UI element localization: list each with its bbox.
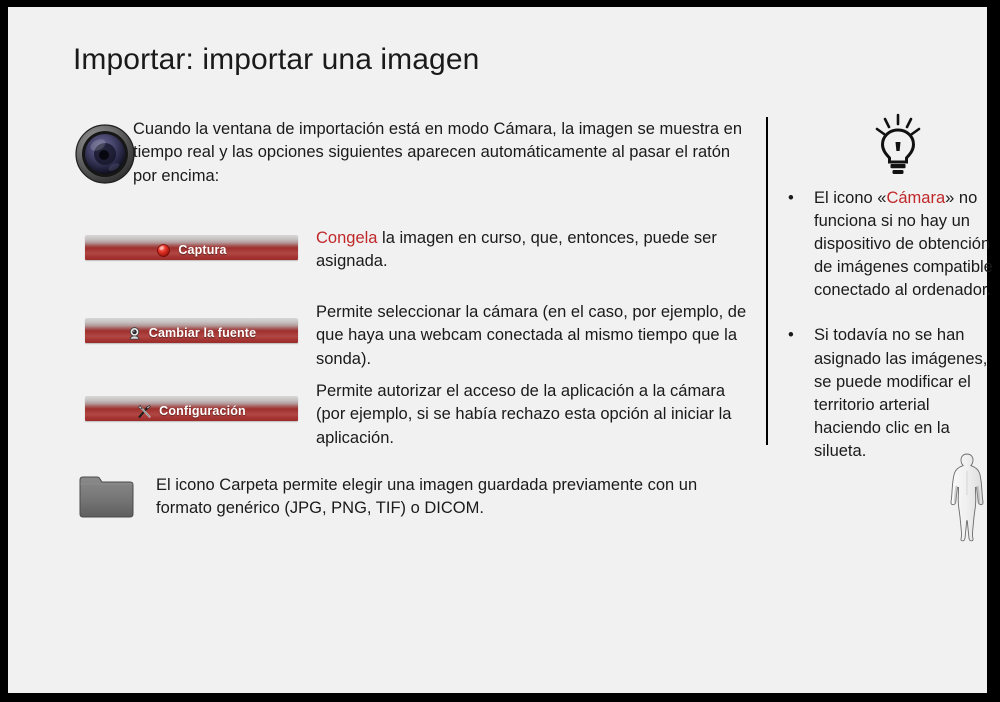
list-item: •Si todavía no se han asignado las imáge… xyxy=(778,324,996,463)
intro-text: Cuando la ventana de importación está en… xyxy=(133,118,753,188)
tip-1-part1: El icono « xyxy=(814,189,886,207)
record-dot-icon xyxy=(156,243,171,258)
tip-2-text: Si todavía no se han asignado las imágen… xyxy=(814,326,987,459)
captura-button[interactable]: Captura xyxy=(85,235,298,260)
intro-block: Cuando la ventana de importación está en… xyxy=(133,118,753,188)
configuracion-button[interactable]: Configuración xyxy=(85,396,298,421)
configuracion-description: Permite autorizar el acceso de la aplica… xyxy=(316,380,756,450)
folder-icon xyxy=(78,472,135,520)
tips-list: •El icono «Cámara» no funciona si no hay… xyxy=(778,187,996,485)
cambiar-la-fuente-button[interactable]: Cambiar la fuente xyxy=(85,318,298,343)
congela-highlight: Congela xyxy=(316,229,377,247)
configuracion-button-label: Configuración xyxy=(159,404,246,418)
bullet-glyph: • xyxy=(788,324,794,347)
slide-canvas: Importar: importar una imagen xyxy=(8,7,987,693)
captura-button-label: Captura xyxy=(178,243,226,257)
camera-lens-icon xyxy=(74,123,138,187)
vertical-divider xyxy=(766,117,768,445)
captura-description: Congela la imagen en curso, que, entonce… xyxy=(316,227,756,274)
body-silhouette-icon[interactable] xyxy=(942,451,992,543)
folder-description: El icono Carpeta permite elegir una imag… xyxy=(156,474,736,521)
captura-description-rest: la imagen en curso, que, entonces, puede… xyxy=(316,229,717,270)
lightbulb-icon xyxy=(869,113,927,175)
cambiar-la-fuente-description: Permite seleccionar la cámara (en el cas… xyxy=(316,301,756,371)
webcam-icon xyxy=(127,326,142,341)
slide-frame: Importar: importar una imagen xyxy=(0,0,1000,702)
camara-highlight: Cámara xyxy=(886,189,945,207)
tools-icon xyxy=(137,404,152,419)
cambiar-la-fuente-button-label: Cambiar la fuente xyxy=(149,326,256,340)
bullet-glyph: • xyxy=(788,187,794,210)
page-title: Importar: importar una imagen xyxy=(73,43,479,77)
list-item: •El icono «Cámara» no funciona si no hay… xyxy=(778,187,996,302)
